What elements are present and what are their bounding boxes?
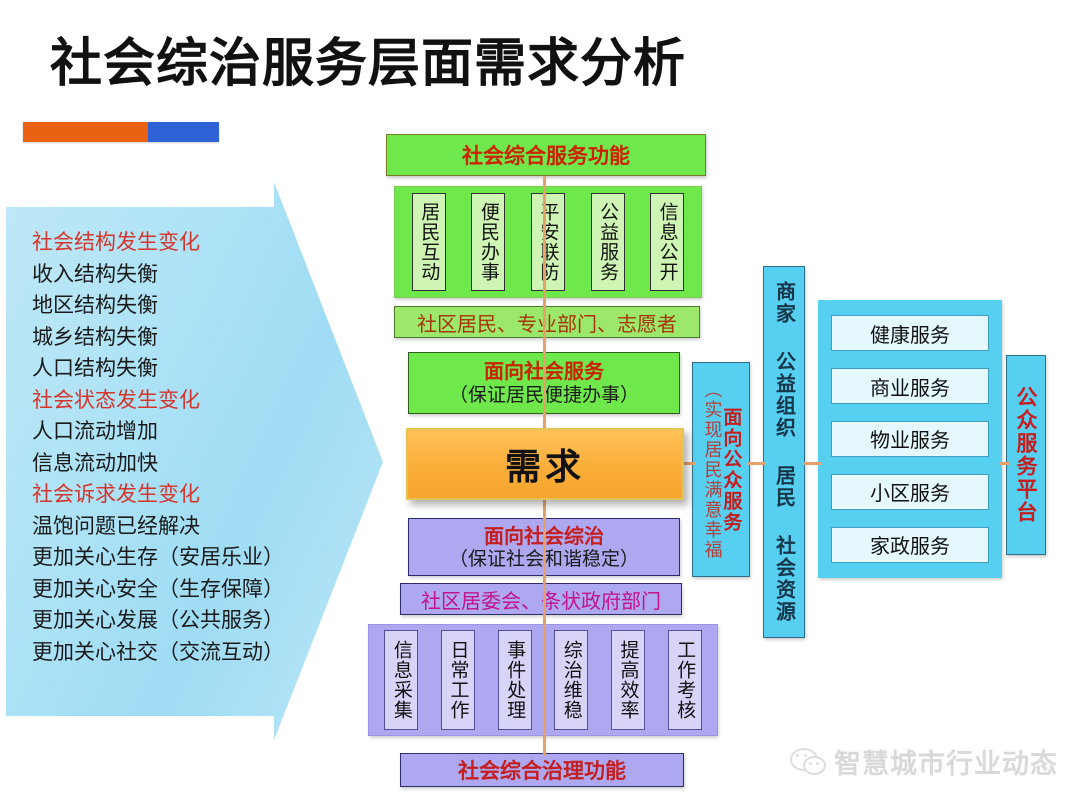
arrow-list-item: 收入结构失衡 — [32, 259, 282, 291]
service-function-cell: 平安联防 — [531, 193, 565, 291]
arrow-list-item: 更加关心社交（交流互动） — [32, 637, 282, 669]
public-service-platform-panel: 公众服务平台 — [1006, 355, 1046, 555]
governance-function-cell: 提高效率 — [611, 630, 645, 730]
connector-services-to-platform — [1000, 462, 1010, 465]
diagram-canvas: 社会综治服务层面需求分析 社会结构发生变化收入结构失衡地区结构失衡城乡结构失衡人… — [0, 0, 1080, 810]
arrow-list-item: 温饱问题已经解决 — [32, 511, 282, 543]
governance-function-cell: 事件处理 — [498, 630, 532, 730]
arrow-list-item: 社会诉求发生变化 — [32, 479, 282, 511]
arrow-list-item: 更加关心发展（公共服务） — [32, 605, 282, 637]
watermark: 智慧城市行业动态 — [790, 742, 1058, 781]
arrow-list-item: 信息流动加快 — [32, 448, 282, 480]
service-list-item: 物业服务 — [831, 421, 989, 457]
social-change-arrow: 社会结构发生变化收入结构失衡地区结构失衡城乡结构失衡人口结构失衡社会状态发生变化… — [2, 182, 387, 742]
connector-resources-to-services — [803, 462, 821, 465]
accent-bar-orange-segment — [23, 122, 148, 142]
service-actors: 社区居民、专业部门、志愿者 — [394, 306, 700, 338]
arrow-list-item: 社会状态发生变化 — [32, 385, 282, 417]
arrow-item-list: 社会结构发生变化收入结构失衡地区结构失衡城乡结构失衡人口结构失衡社会状态发生变化… — [32, 227, 282, 668]
wechat-icon — [790, 748, 824, 776]
governance-function-footer: 社会综合治理功能 — [400, 753, 684, 787]
service-list-item: 商业服务 — [831, 368, 989, 404]
governance-actors: 社区居委会、条状政府部门 — [400, 583, 682, 615]
connector-public-to-resources — [748, 462, 766, 465]
governance-function-cell: 信息采集 — [384, 630, 418, 730]
social-resources-label: 商家 公益组织 居民 社会资源 — [774, 281, 795, 623]
service-function-cell: 信息公开 — [650, 193, 684, 291]
service-function-cell: 居民互动 — [412, 193, 446, 291]
social-resources-panel: 商家 公益组织 居民 社会资源 — [763, 266, 805, 638]
watermark-label: 智慧城市行业动态 — [834, 742, 1058, 781]
governance-function-cell: 日常工作 — [441, 630, 475, 730]
accent-bar-blue-segment — [148, 122, 219, 142]
demand-box: 需求 — [406, 428, 684, 500]
arrow-list-item: 社会结构发生变化 — [32, 227, 282, 259]
service-function-cell: 公益服务 — [591, 193, 625, 291]
accent-bar — [23, 122, 219, 142]
service-function-cells: 居民互动便民办事平安联防公益服务信息公开 — [394, 186, 702, 298]
governance-function-cell: 综治维稳 — [554, 630, 588, 730]
governance-function-cell: 工作考核 — [668, 630, 702, 730]
service-list-panel: 健康服务商业服务物业服务小区服务家政服务 — [818, 300, 1002, 578]
arrow-list-item: 人口结构失衡 — [32, 353, 282, 385]
service-list-item: 健康服务 — [831, 315, 989, 351]
page-title: 社会综治服务层面需求分析 — [50, 36, 686, 93]
connector-demand-to-public — [684, 462, 696, 465]
public-service-title: 面向公众服务 — [720, 407, 740, 533]
arrow-list-item: 地区结构失衡 — [32, 290, 282, 322]
public-service-platform-label: 公众服务平台 — [1015, 386, 1037, 524]
service-function-header: 社会综合服务功能 — [386, 134, 706, 176]
arrow-list-item: 更加关心安全（生存保障） — [32, 574, 282, 606]
public-service-subtitle: （实现居民满意幸福 — [702, 380, 721, 560]
service-function-cell: 便民办事 — [471, 193, 505, 291]
arrow-list-item: 人口流动增加 — [32, 416, 282, 448]
arrow-list-item: 城乡结构失衡 — [32, 322, 282, 354]
arrow-list-item: 更加关心生存（安居乐业） — [32, 542, 282, 574]
service-list-item: 小区服务 — [831, 474, 989, 510]
service-list-item: 家政服务 — [831, 527, 989, 563]
public-service-panel: 面向公众服务 （实现居民满意幸福 — [692, 362, 750, 577]
